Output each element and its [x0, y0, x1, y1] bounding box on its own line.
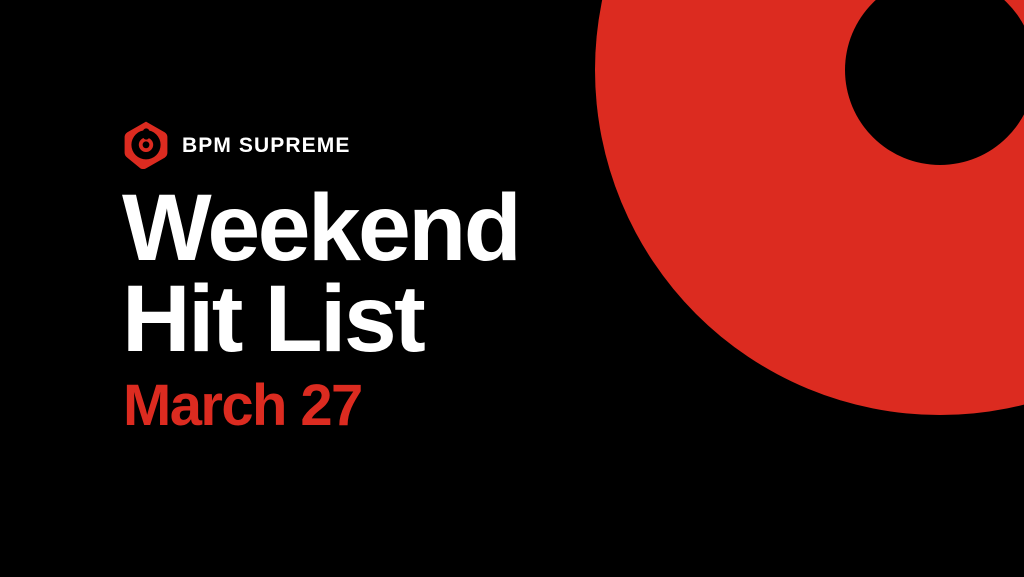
headline-line-1: Weekend: [122, 183, 742, 274]
headline-line-2: Hit List: [122, 274, 742, 365]
brand-logo-lockup[interactable]: BPM SUPREME: [124, 121, 350, 169]
brand-wordmark: BPM SUPREME: [182, 135, 350, 156]
headline-block: Weekend Hit List: [122, 183, 742, 365]
bpm-supreme-hexagon-b-mark-icon: [124, 121, 168, 169]
date-subhead: March 27: [123, 377, 362, 435]
poster-canvas: BPM SUPREME Weekend Hit List March 27: [0, 0, 1024, 577]
